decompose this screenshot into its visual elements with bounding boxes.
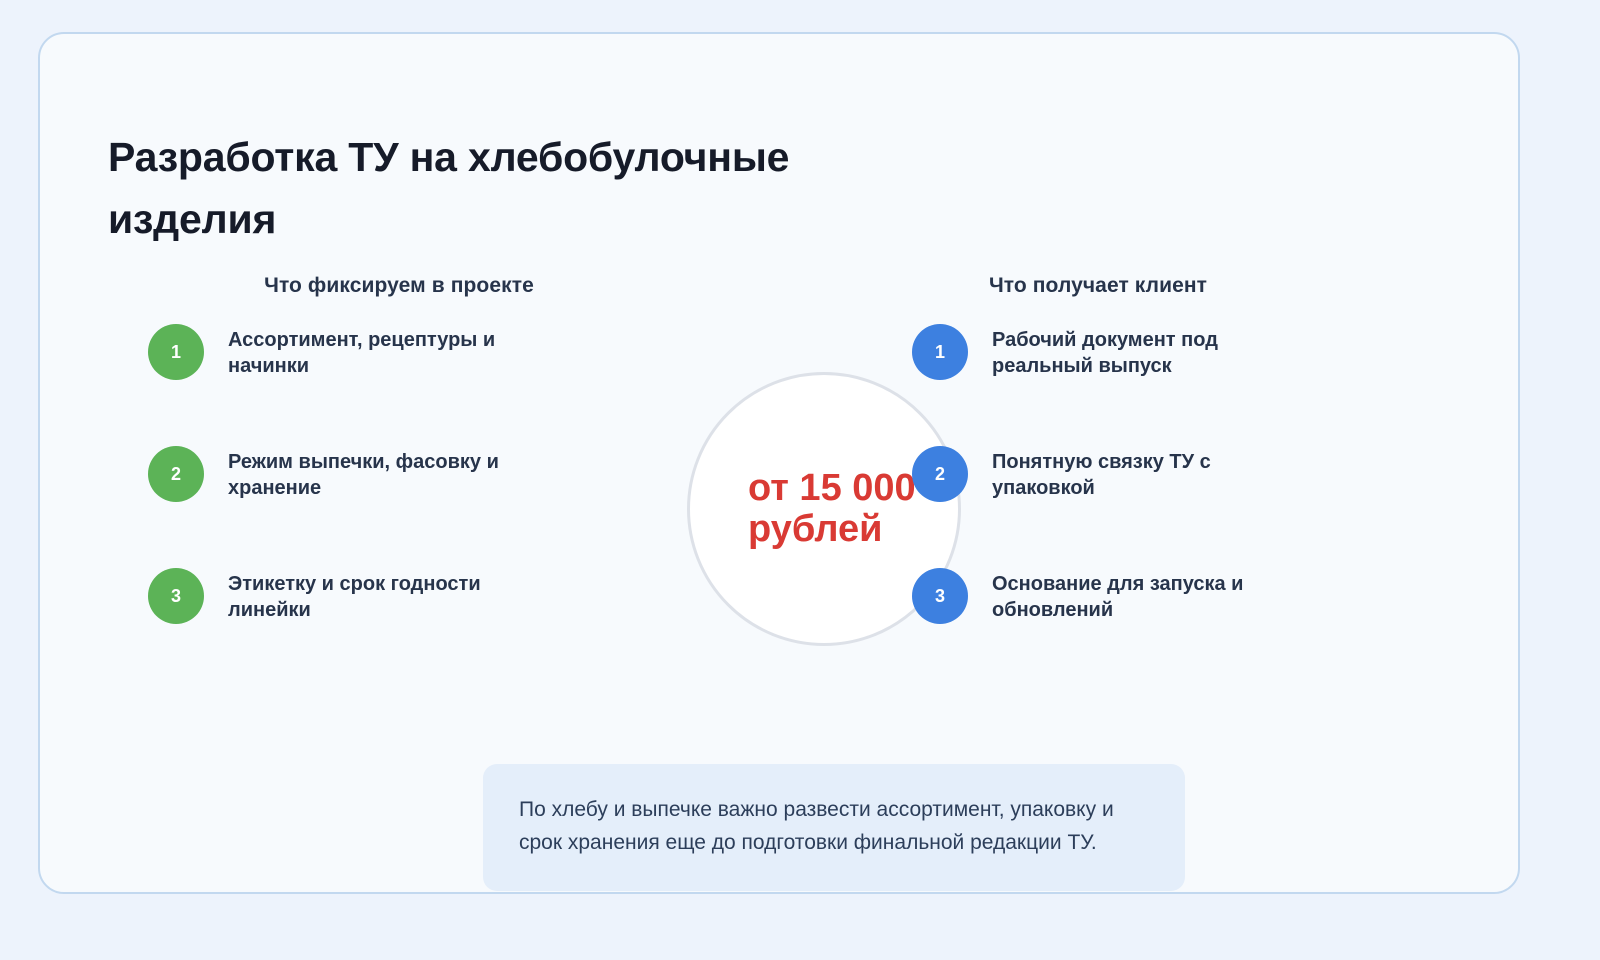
number-badge-icon: 1 xyxy=(148,324,204,380)
item-list-left: 1 Ассортимент, рецептуры и начинки 2 Реж… xyxy=(148,322,668,630)
list-item: 1 Рабочий документ под реальный выпуск xyxy=(912,322,1382,386)
column-what-we-fix: Что фиксируем в проекте 1 Ассортимент, р… xyxy=(148,274,668,630)
infographic-card: Разработка ТУ на хлебобулочные изделия Ч… xyxy=(38,32,1520,894)
item-list-right: 1 Рабочий документ под реальный выпуск 2… xyxy=(912,322,1382,630)
page-title: Разработка ТУ на хлебобулочные изделия xyxy=(108,127,868,250)
list-item-label: Понятную связку ТУ с упаковкой xyxy=(992,444,1312,502)
price-value: от 15 000 рублей xyxy=(690,468,918,550)
note-box: По хлебу и выпечке важно развести ассорт… xyxy=(483,764,1185,891)
list-item: 2 Понятную связку ТУ с упаковкой xyxy=(912,444,1382,508)
column-heading-left: Что фиксируем в проекте xyxy=(148,274,668,298)
list-item-label: Рабочий документ под реальный выпуск xyxy=(992,322,1312,380)
number-badge-icon: 1 xyxy=(912,324,968,380)
column-heading-right: Что получает клиент xyxy=(912,274,1382,298)
list-item: 1 Ассортимент, рецептуры и начинки xyxy=(148,322,668,386)
number-badge-icon: 3 xyxy=(148,568,204,624)
list-item-label: Ассортимент, рецептуры и начинки xyxy=(228,322,558,380)
list-item-label: Основание для запуска и обновлений xyxy=(992,566,1312,624)
list-item: 3 Основание для запуска и обновлений xyxy=(912,566,1382,630)
number-badge-icon: 2 xyxy=(148,446,204,502)
list-item-label: Этикетку и срок годности линейки xyxy=(228,566,558,624)
note-text: По хлебу и выпечке важно развести ассорт… xyxy=(519,794,1149,859)
number-badge-icon: 3 xyxy=(912,568,968,624)
list-item: 3 Этикетку и срок годности линейки xyxy=(148,566,668,630)
list-item-label: Режим выпечки, фасовку и хранение xyxy=(228,444,558,502)
list-item: 2 Режим выпечки, фасовку и хранение xyxy=(148,444,668,508)
column-what-client-gets: Что получает клиент 1 Рабочий документ п… xyxy=(912,274,1382,630)
number-badge-icon: 2 xyxy=(912,446,968,502)
